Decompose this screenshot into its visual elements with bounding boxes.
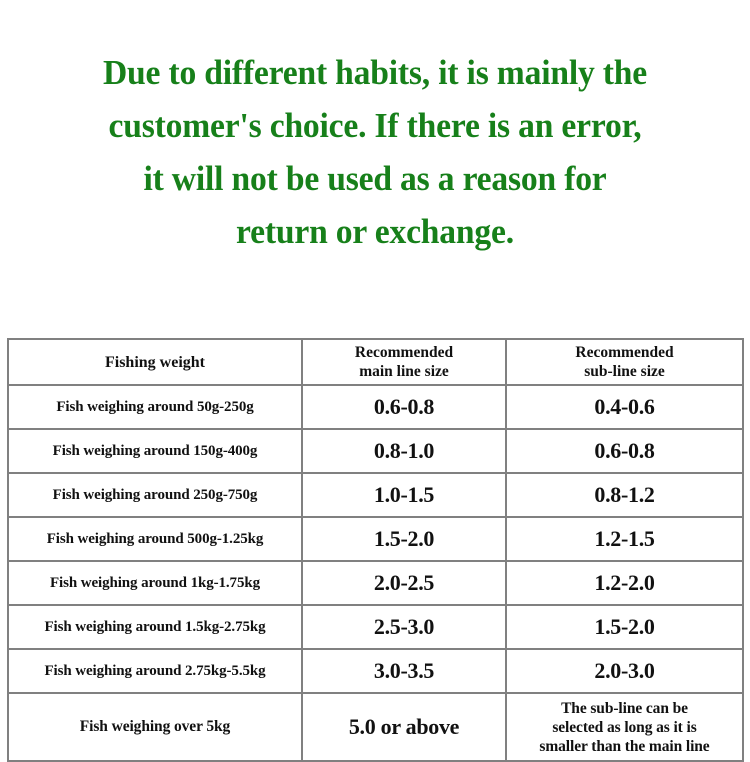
header-fishing-weight: Fishing weight [8, 339, 302, 385]
line-sizing-table: Fishing weight Recommended main line siz… [7, 338, 744, 762]
cell-main-line-size: 2.0-2.5 [302, 561, 506, 605]
table-row: Fish weighing around 1.5kg-2.75kg 2.5-3.… [8, 605, 743, 649]
table-row: Fish weighing around 1kg-1.75kg 2.0-2.5 … [8, 561, 743, 605]
sub-line-note-line1: The sub-line can be [509, 699, 740, 718]
sub-line-note-line3: smaller than the main line [509, 737, 740, 756]
cell-fishing-weight: Fish weighing around 1kg-1.75kg [8, 561, 302, 605]
header-sub-line-size-line1: Recommended [509, 343, 740, 362]
table-header-row: Fishing weight Recommended main line siz… [8, 339, 743, 385]
product-info-page: Due to different habits, it is mainly th… [0, 0, 750, 750]
line-sizing-table-container: Fishing weight Recommended main line siz… [7, 338, 742, 762]
return-policy-notice: Due to different habits, it is mainly th… [15, 46, 735, 258]
cell-fishing-weight: Fish weighing around 250g-750g [8, 473, 302, 517]
cell-sub-line-size: 1.2-1.5 [506, 517, 743, 561]
cell-sub-line-size: 0.8-1.2 [506, 473, 743, 517]
cell-main-line-size: 0.8-1.0 [302, 429, 506, 473]
table-row: Fish weighing around 250g-750g 1.0-1.5 0… [8, 473, 743, 517]
cell-fishing-weight: Fish weighing around 500g-1.25kg [8, 517, 302, 561]
cell-sub-line-size: 0.6-0.8 [506, 429, 743, 473]
table-row: Fish weighing around 2.75kg-5.5kg 3.0-3.… [8, 649, 743, 693]
header-main-line-size-line2: main line size [305, 362, 503, 381]
header-main-line-size: Recommended main line size [302, 339, 506, 385]
cell-sub-line-size: 0.4-0.6 [506, 385, 743, 429]
cell-sub-line-size: 1.5-2.0 [506, 605, 743, 649]
cell-main-line-size: 0.6-0.8 [302, 385, 506, 429]
header-sub-line-size: Recommended sub-line size [506, 339, 743, 385]
cell-main-line-size: 1.5-2.0 [302, 517, 506, 561]
cell-sub-line-note: The sub-line can be selected as long as … [506, 693, 743, 761]
cell-fishing-weight: Fish weighing around 2.75kg-5.5kg [8, 649, 302, 693]
notice-line-1: Due to different habits, it is mainly th… [15, 46, 735, 99]
notice-line-4: return or exchange. [15, 205, 735, 258]
cell-fishing-weight: Fish weighing over 5kg [8, 693, 302, 761]
cell-fishing-weight: Fish weighing around 50g-250g [8, 385, 302, 429]
header-sub-line-size-line2: sub-line size [509, 362, 740, 381]
header-main-line-size-line1: Recommended [305, 343, 503, 362]
table-row: Fish weighing over 5kg 5.0 or above The … [8, 693, 743, 761]
cell-fishing-weight: Fish weighing around 150g-400g [8, 429, 302, 473]
cell-sub-line-size: 2.0-3.0 [506, 649, 743, 693]
cell-fishing-weight: Fish weighing around 1.5kg-2.75kg [8, 605, 302, 649]
notice-line-2: customer's choice. If there is an error, [15, 99, 735, 152]
cell-main-line-size: 5.0 or above [302, 693, 506, 761]
table-row: Fish weighing around 50g-250g 0.6-0.8 0.… [8, 385, 743, 429]
cell-main-line-size: 2.5-3.0 [302, 605, 506, 649]
notice-line-3: it will not be used as a reason for [15, 152, 735, 205]
cell-main-line-size: 1.0-1.5 [302, 473, 506, 517]
cell-sub-line-size: 1.2-2.0 [506, 561, 743, 605]
cell-main-line-size: 3.0-3.5 [302, 649, 506, 693]
table-row: Fish weighing around 500g-1.25kg 1.5-2.0… [8, 517, 743, 561]
table-row: Fish weighing around 150g-400g 0.8-1.0 0… [8, 429, 743, 473]
sub-line-note-line2: selected as long as it is [509, 718, 740, 737]
